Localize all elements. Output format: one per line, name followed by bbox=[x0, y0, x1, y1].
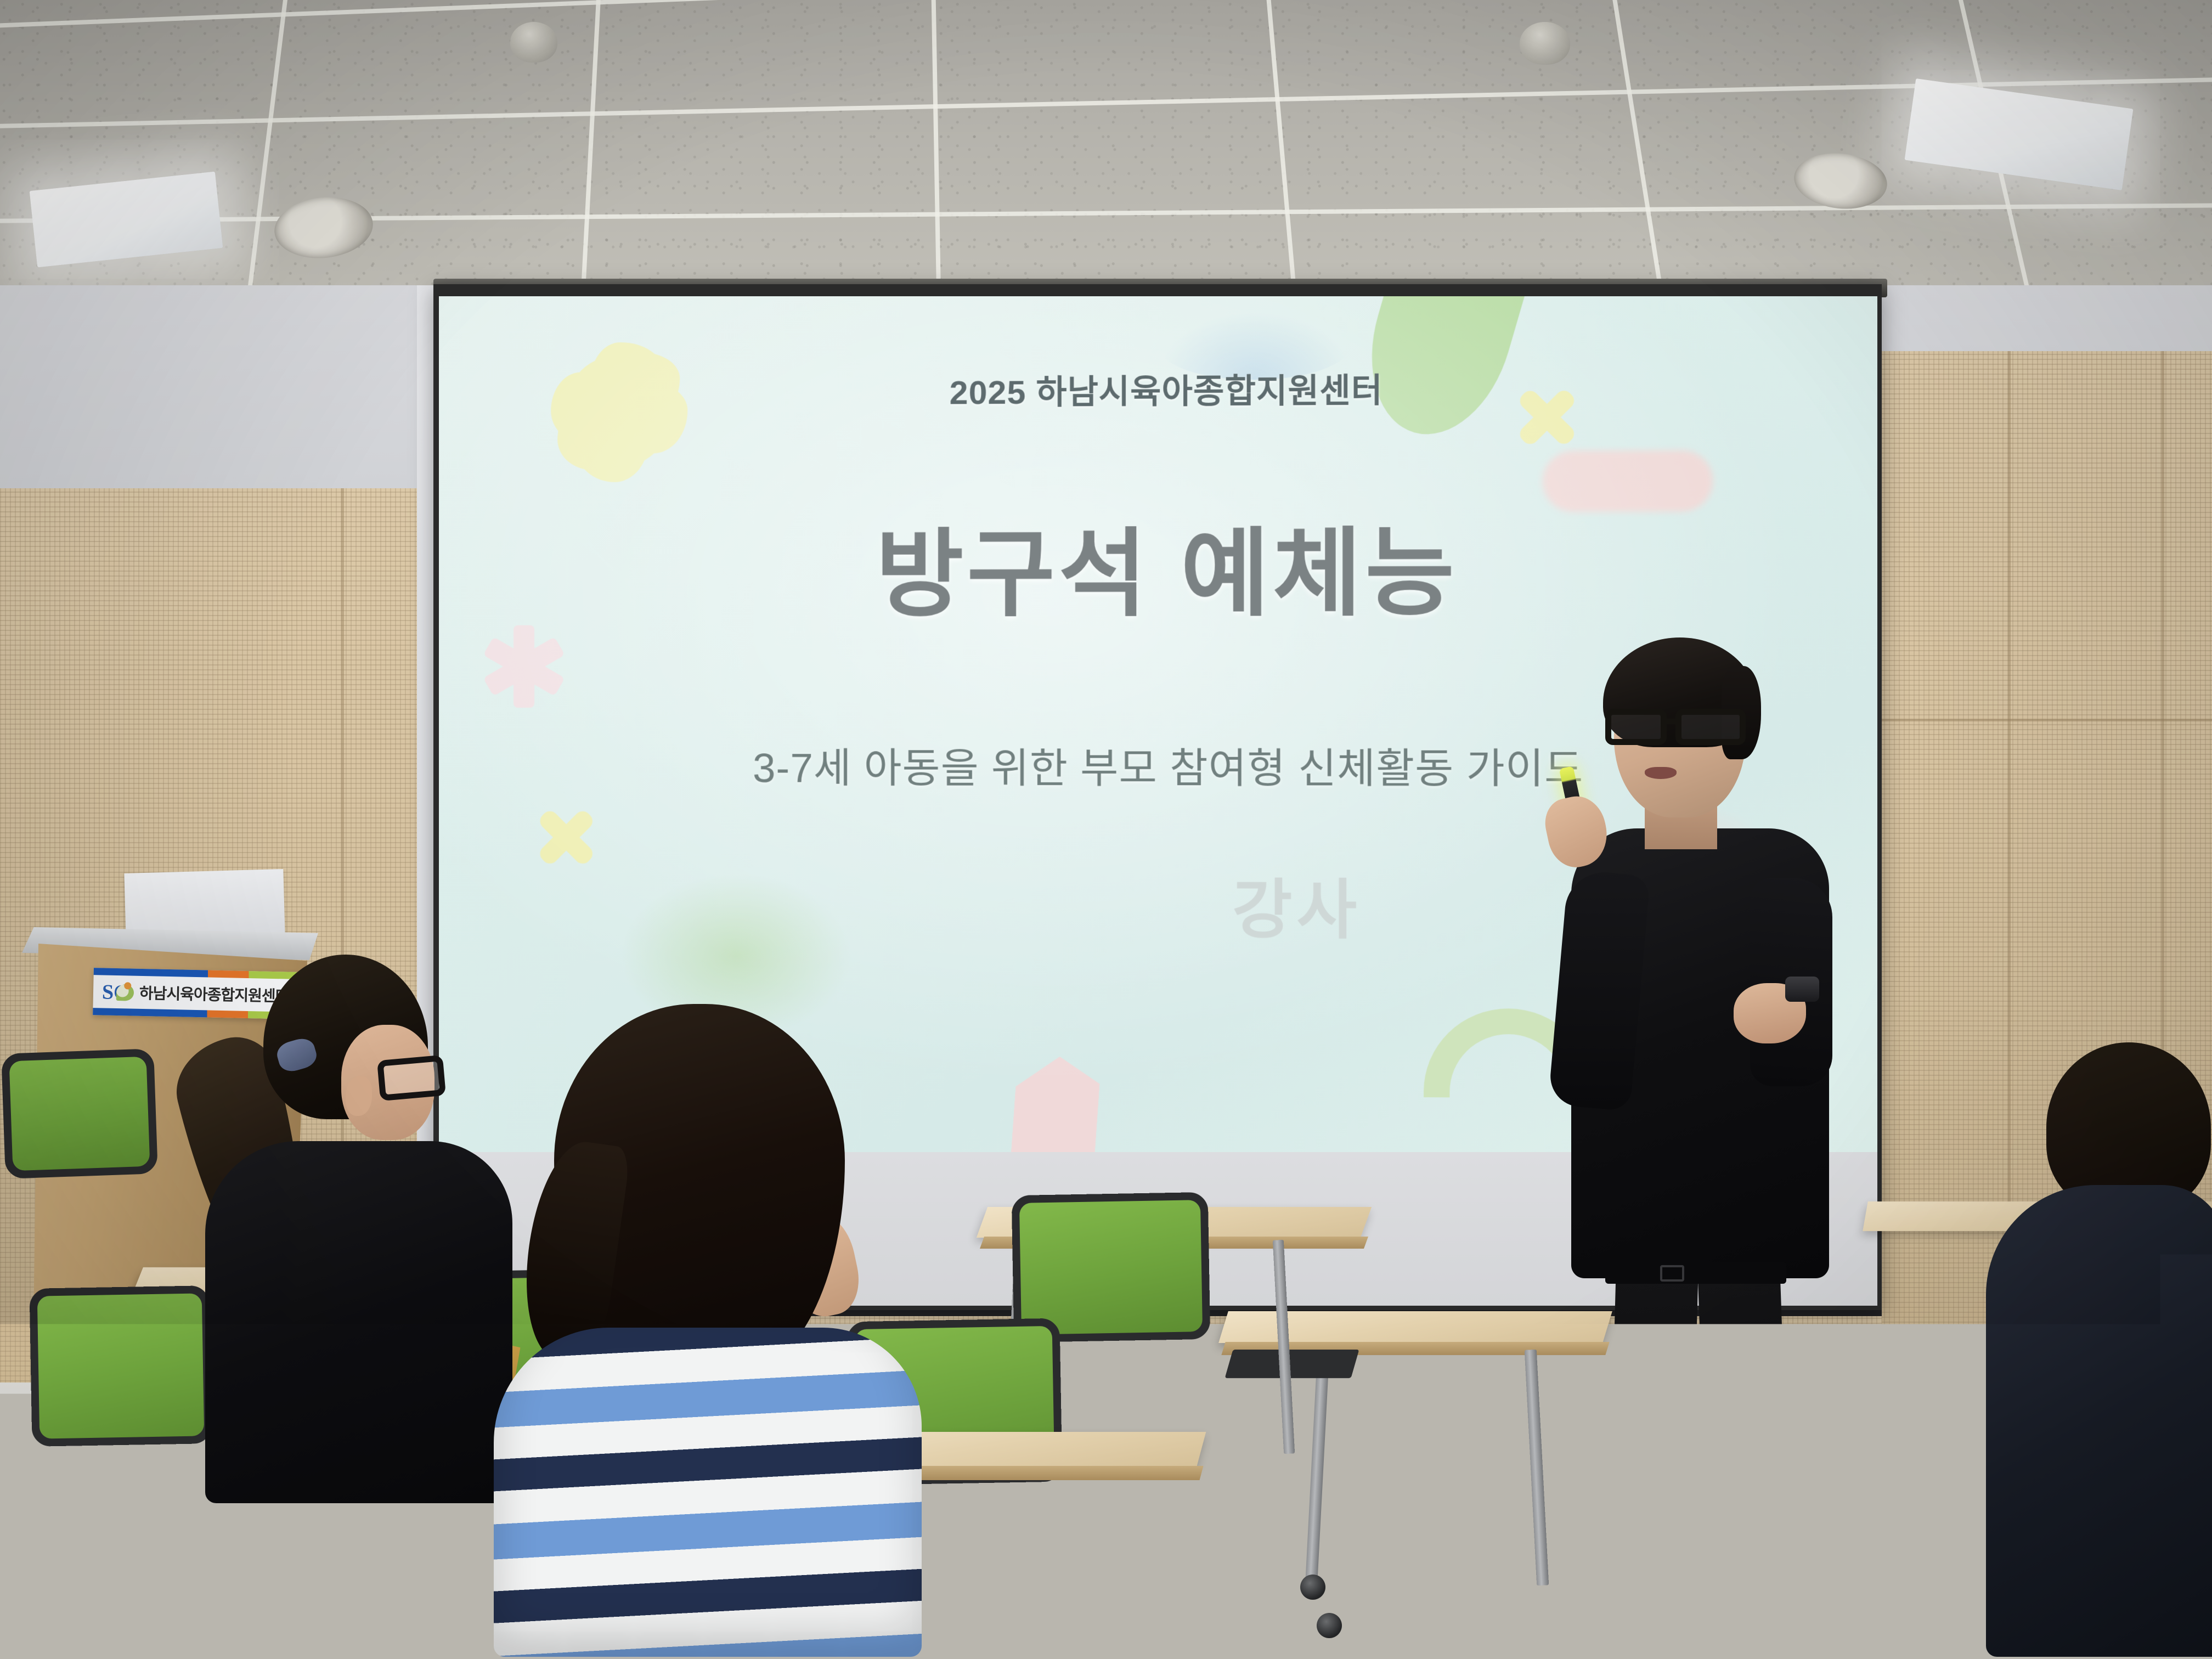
leg-left bbox=[1604, 1272, 1699, 1659]
pentagon-house-icon bbox=[1010, 1053, 1102, 1161]
mouth bbox=[1645, 767, 1677, 779]
presenter bbox=[1553, 647, 1893, 1503]
center-logo-icon: SC bbox=[102, 979, 137, 1004]
torso bbox=[1986, 1185, 2212, 1657]
attendee-striped bbox=[494, 1004, 922, 1657]
chair-backrest bbox=[1019, 1200, 1203, 1335]
hair bbox=[554, 1004, 845, 1377]
chair-backrest bbox=[9, 1057, 150, 1171]
legs bbox=[1610, 1273, 1791, 1659]
panel-seam-right-h bbox=[1854, 719, 2212, 721]
wristwatch-icon bbox=[1785, 977, 1819, 1002]
slide-eyebrow: 2025 하남시육아종합지원센터 bbox=[439, 360, 1877, 416]
belt bbox=[1605, 1262, 1786, 1284]
fire-sprinkler-icon bbox=[1520, 22, 1570, 65]
lens-left bbox=[1605, 709, 1667, 745]
ceiling-grid bbox=[0, 0, 2212, 307]
slide-title: 방구석 예체능 bbox=[439, 493, 1877, 635]
table-caster-a bbox=[1300, 1575, 1325, 1600]
lecture-room-photo: 2025 하남시육아종합지원센터 방구석 예체능 3-7세 아동을 위한 부모 … bbox=[0, 0, 2212, 1659]
ear bbox=[346, 1076, 372, 1116]
attendee-ponytail bbox=[181, 955, 532, 1503]
lens-right bbox=[1675, 709, 1746, 745]
asterisk-star-icon bbox=[483, 625, 565, 708]
leg-right bbox=[1698, 1272, 1797, 1659]
glasses-icon bbox=[377, 1055, 446, 1101]
striped-shirt bbox=[494, 1328, 922, 1657]
chair-mid-center[interactable] bbox=[1019, 1200, 1203, 1335]
chair-back-left[interactable] bbox=[9, 1057, 150, 1171]
slide-speaker-label: 강사 bbox=[1232, 857, 1361, 951]
chair-front-left[interactable] bbox=[31, 1479, 265, 1659]
glasses-icon bbox=[1605, 709, 1752, 748]
cross-mark-icon-left bbox=[533, 804, 599, 870]
table-caster-b bbox=[1317, 1613, 1342, 1638]
chair-row1-left[interactable] bbox=[37, 1293, 204, 1438]
table-leg-bracket bbox=[1225, 1350, 1359, 1378]
podium-paper bbox=[124, 869, 285, 939]
fire-sprinkler-icon-2 bbox=[510, 22, 557, 63]
chair-backrest bbox=[37, 1293, 204, 1438]
chair-backrest bbox=[31, 1479, 265, 1659]
belt-buckle-icon bbox=[1660, 1265, 1684, 1282]
attendee-right-edge bbox=[1986, 1042, 2212, 1657]
torso bbox=[205, 1141, 512, 1503]
ceiling bbox=[0, 0, 2212, 307]
